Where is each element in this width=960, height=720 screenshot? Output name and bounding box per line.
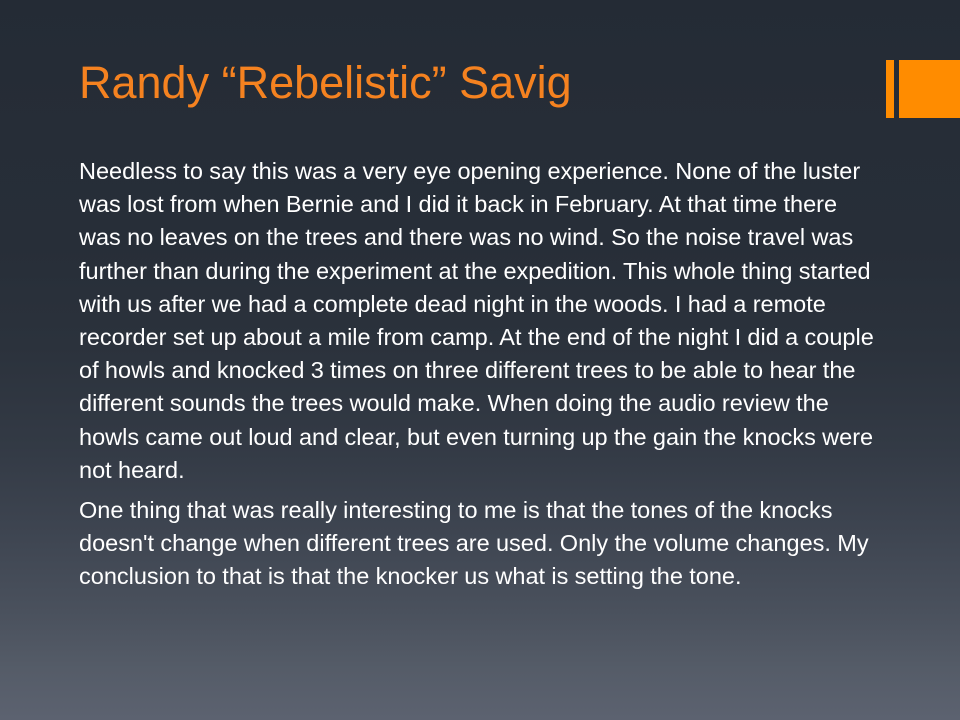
slide-title: Randy “Rebelistic” Savig xyxy=(79,57,869,109)
body-paragraph-2: One thing that was really interesting to… xyxy=(79,494,883,594)
body-paragraph-1: Needless to say this was a very eye open… xyxy=(79,155,883,487)
presentation-slide: Randy “Rebelistic” Savig Needless to say… xyxy=(0,0,960,720)
accent-block-decoration xyxy=(899,60,960,118)
slide-body: Needless to say this was a very eye open… xyxy=(79,155,883,594)
accent-bar-thin-decoration xyxy=(886,60,894,118)
